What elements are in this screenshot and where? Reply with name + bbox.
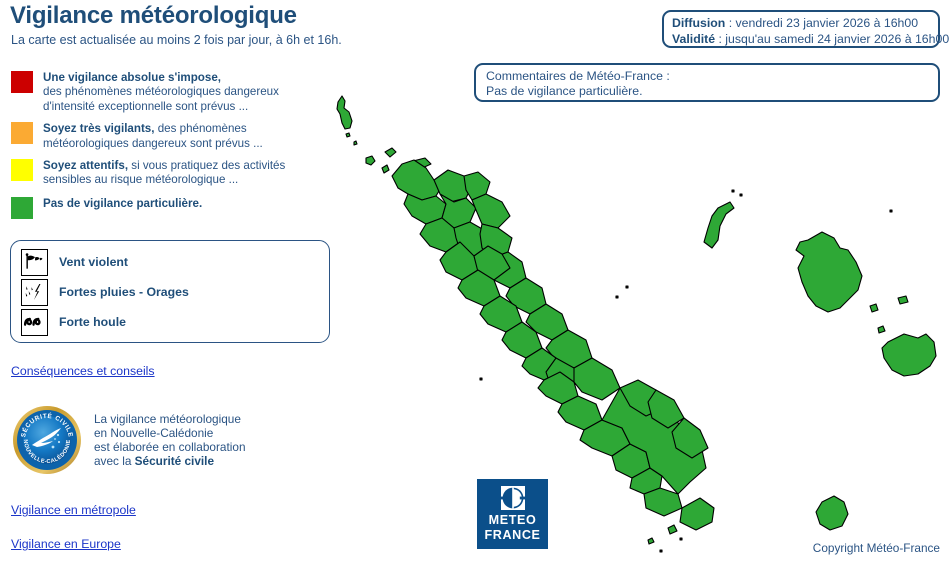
map-island-dot-1 (346, 133, 350, 137)
page-subtitle: La carte est actualisée au moins 2 fois … (11, 33, 342, 47)
meteo-france-logo: METEO FRANCE (477, 479, 548, 549)
legend-bold-red: Une vigilance absolue s'impose, (43, 71, 221, 84)
legend-text-green: Pas de vigilance particulière. (43, 196, 331, 211)
meteo-france-word-france: FRANCE (477, 528, 548, 542)
legend-bold-orange: Soyez très vigilants, (43, 122, 154, 135)
phenomena-label-swell: Forte houle (59, 309, 329, 336)
map-island-ouvea (704, 202, 734, 248)
secu-line-2: en Nouvelle-Calédonie (94, 426, 213, 440)
legend-text-orange: Soyez très vigilants, des phénomènes mét… (43, 121, 331, 151)
vigilance-map-nouvelle-caledonie[interactable] (330, 90, 950, 560)
legend-row-red: Une vigilance absolue s'impose,des phéno… (11, 70, 331, 114)
validity-label: Validité (672, 32, 715, 46)
secu-line-1: La vigilance météorologique (94, 412, 241, 426)
legend-bold-green: Pas de vigilance particulière. (43, 197, 202, 210)
map-island-dot-2 (354, 141, 357, 145)
windsock-icon (21, 249, 48, 276)
copyright-notice: Copyright Météo-France (813, 541, 940, 555)
link-vigilance-metropole[interactable]: Vigilance en métropole (11, 503, 136, 517)
phenomena-row-rain: Fortes pluies - Orages (11, 279, 329, 309)
diffusion-label: Diffusion (672, 16, 725, 30)
page-title: Vigilance météorologique (10, 2, 297, 30)
map-region-belep (337, 96, 352, 129)
securite-civile-text: La vigilance météorologique en Nouvelle-… (94, 412, 246, 468)
secu-line-4-bold: Sécurité civile (135, 454, 214, 468)
legend-swatch-red (11, 71, 33, 93)
phenomena-label-rain: Fortes pluies - Orages (59, 279, 329, 306)
map-island-lifou (796, 232, 862, 312)
legend-row-orange: Soyez très vigilants, des phénomènes mét… (11, 121, 331, 151)
map-islet-loyalty-2 (878, 326, 885, 333)
phenomena-label-wind: Vent violent (59, 249, 329, 276)
map-island-ile-des-pins (816, 496, 848, 530)
diffusion-line: Diffusion : vendredi 23 janvier 2026 à 1… (672, 15, 930, 31)
legend-text-red: Une vigilance absolue s'impose,des phéno… (43, 70, 331, 114)
legend-swatch-yellow (11, 159, 33, 181)
securite-civile-logo: SÉCURITÉ CIVILE NOUVELLE-CALÉDONIE (12, 405, 82, 475)
legend-swatch-orange (11, 122, 33, 144)
legend-text-yellow: Soyez attentifs, si vous pratiquez des a… (43, 158, 331, 188)
rain-thunderstorm-icon (21, 279, 48, 306)
map-commune-south-tip (680, 498, 714, 530)
link-vigilance-europe[interactable]: Vigilance en Europe (11, 537, 121, 551)
map-commune-thio (574, 358, 620, 400)
map-islet-s1 (668, 525, 677, 534)
link-consequences-et-conseils[interactable]: Conséquences et conseils (11, 364, 155, 378)
legend-row-yellow: Soyez attentifs, si vous pratiquez des a… (11, 158, 331, 188)
heavy-swell-icon (21, 309, 48, 336)
validity-value: : jusqu'au samedi 24 janvier 2026 à 16h0… (715, 32, 949, 46)
map-commune-hienghene (472, 194, 510, 228)
map-island-poum-islet (366, 156, 375, 165)
legend-rest-red: des phénomènes météorologiques dangereux… (43, 85, 279, 112)
phenomena-row-wind: Vent violent (11, 249, 329, 279)
secu-line-3: est élaborée en collaboration (94, 440, 246, 454)
comments-heading: Commentaires de Météo-France : (486, 69, 928, 84)
phenomena-row-swell: Forte houle (11, 309, 329, 339)
securite-civile-block: SÉCURITÉ CIVILE NOUVELLE-CALÉDONIE La vi… (12, 405, 302, 477)
legend-bold-yellow: Soyez attentifs, (43, 159, 128, 172)
map-islet-loyalty-1 (898, 296, 908, 304)
meteo-france-word-meteo: METEO (477, 513, 548, 527)
map-islet-s2 (648, 538, 654, 544)
legend-row-green: Pas de vigilance particulière. (11, 196, 331, 218)
map-islet-n2 (382, 165, 389, 173)
secu-line-4-prefix: avec la (94, 454, 135, 468)
meteo-france-mark-icon (501, 486, 525, 510)
map-regions (337, 96, 936, 552)
map-island-tiga (870, 304, 878, 312)
phenomena-legend-box: Vent violent Fortes pluies - Orages (10, 240, 330, 343)
color-legend: Une vigilance absolue s'impose,des phéno… (11, 70, 331, 225)
validity-line: Validité : jusqu'au samedi 24 janvier 20… (672, 31, 930, 47)
map-island-mare (882, 334, 936, 376)
map-islet-n1 (385, 148, 396, 157)
diffusion-value: : vendredi 23 janvier 2026 à 16h00 (725, 16, 918, 30)
legend-swatch-green (11, 197, 33, 219)
diffusion-validity-box: Diffusion : vendredi 23 janvier 2026 à 1… (662, 10, 940, 48)
